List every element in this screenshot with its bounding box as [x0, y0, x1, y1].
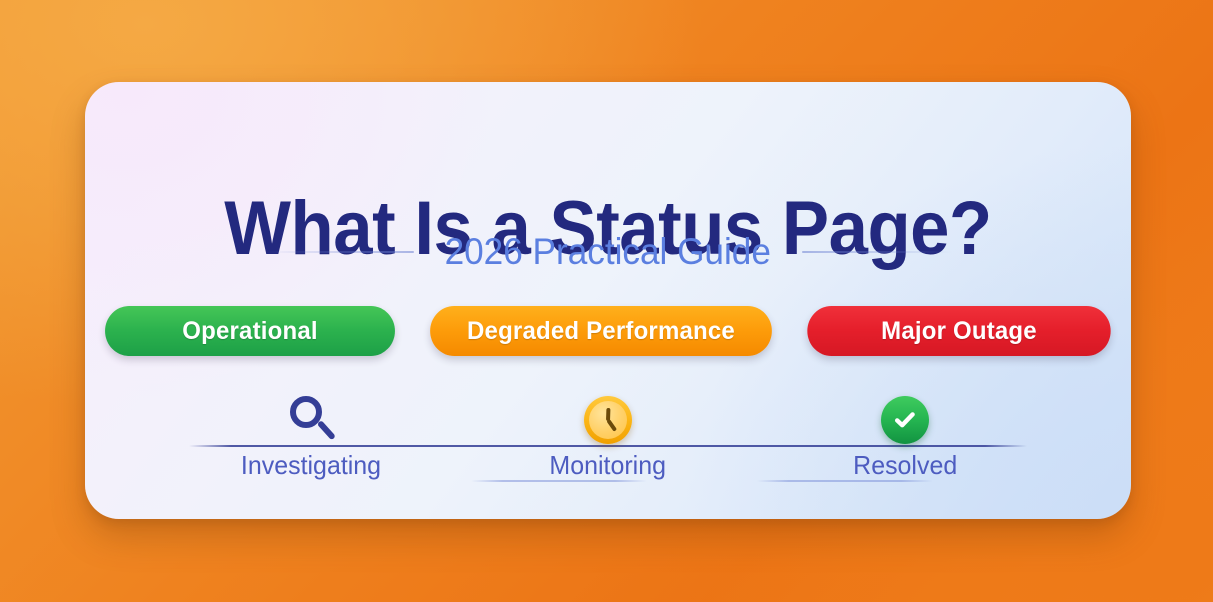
timeline-step-label-resolved: Resolved	[853, 450, 957, 480]
timeline-steps: Investigating Monitoring	[189, 394, 1027, 494]
subtitle-row: 2026 Practical Guide	[85, 230, 1131, 274]
status-badge-group: Operational Degraded Performance Major O…	[85, 306, 1131, 356]
clock-icon	[582, 394, 634, 446]
magnifier-icon	[285, 394, 337, 446]
incident-timeline: Investigating Monitoring	[189, 394, 1027, 494]
timeline-step-monitoring[interactable]: Monitoring	[508, 394, 708, 480]
page-subtitle: 2026 Practical Guide	[445, 230, 771, 274]
subtitle-rule-left	[264, 251, 414, 253]
status-badge-degraded-performance[interactable]: Degraded Performance	[430, 306, 772, 356]
timeline-step-investigating[interactable]: Investigating	[211, 394, 411, 480]
status-badge-major-outage[interactable]: Major Outage	[807, 306, 1110, 356]
magnifier-handle-icon	[317, 420, 336, 440]
timeline-step-resolved[interactable]: Resolved	[805, 394, 1005, 480]
status-badge-operational[interactable]: Operational	[105, 306, 395, 356]
poster-background: What Is a Status Page? 2026 Practical Gu…	[0, 0, 1213, 602]
status-page-card: What Is a Status Page? 2026 Practical Gu…	[85, 82, 1131, 519]
check-circle-icon	[879, 394, 931, 446]
subtitle-rule-right	[802, 251, 952, 253]
timeline-step-label-monitoring: Monitoring	[550, 450, 667, 480]
timeline-step-label-investigating: Investigating	[241, 450, 381, 480]
